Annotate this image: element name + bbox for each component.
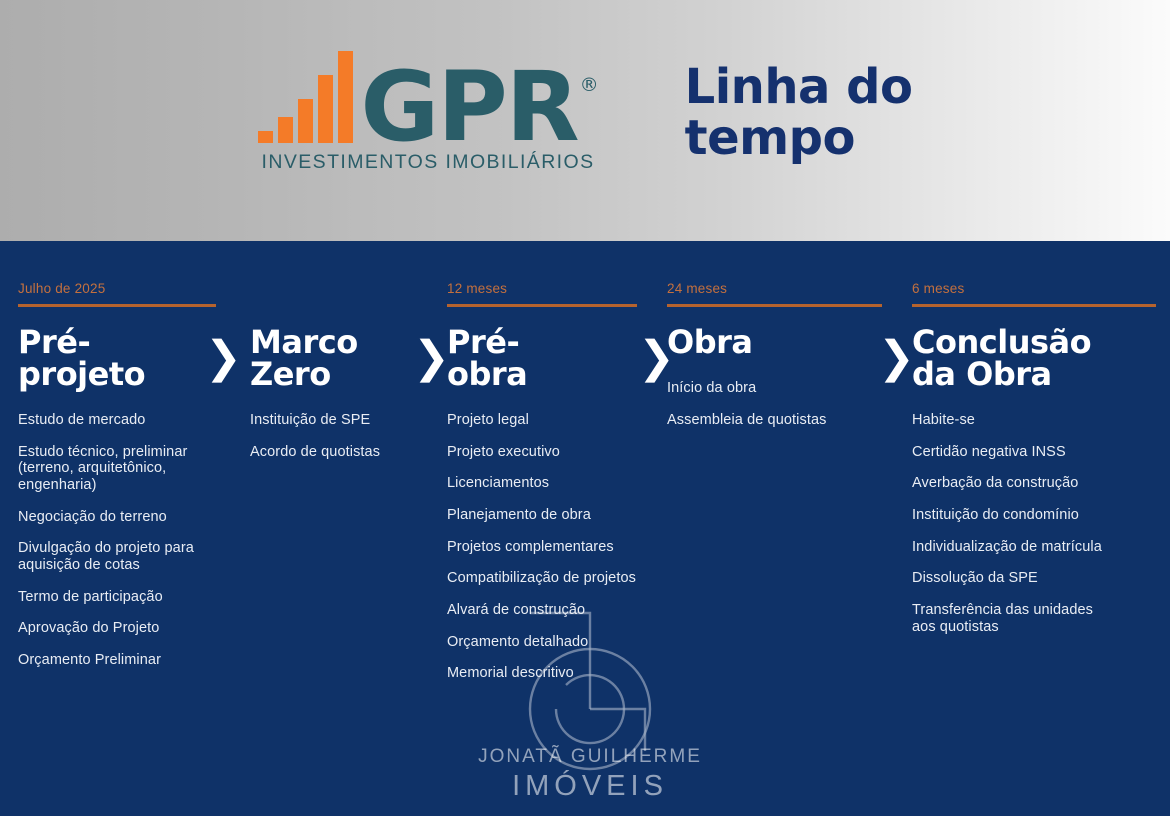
timeline-item-list: Projeto legal Projeto executivo Licencia… (447, 412, 637, 682)
list-item: Aprovação do Projeto (18, 620, 216, 637)
logo-wordmark: GPR (361, 68, 578, 147)
watermark-line-1: JONATÃ GUILHERME (465, 746, 715, 768)
timeline-column-marco-zero: Marco Zero Instituição de SPE Acordo de … (250, 241, 447, 720)
bar-chart-bar-1 (258, 131, 273, 143)
list-item: Estudo técnico, preliminar (terreno, arq… (18, 444, 216, 494)
watermark-line-2: IMÓVEIS (465, 770, 715, 803)
list-item: Estudo de mercado (18, 412, 216, 429)
timeline-accent-rule (18, 304, 216, 307)
timeline-column-pre-obra: 12 meses Pré- obra Projeto legal Projeto… (447, 241, 667, 720)
timeline-section: Julho de 2025 Pré- projeto Estudo de mer… (0, 241, 1170, 720)
page-title: Linha do tempo (685, 62, 913, 164)
list-item: Início da obra (667, 380, 882, 397)
list-item: Planejamento de obra (447, 507, 637, 524)
bar-chart-bar-2 (278, 117, 293, 143)
timeline-column-pre-projeto: Julho de 2025 Pré- projeto Estudo de mer… (0, 241, 250, 720)
list-item: Dissolução da SPE (912, 570, 1156, 587)
bar-chart-bar-5 (338, 51, 353, 143)
list-item: Acordo de quotistas (250, 444, 417, 461)
timeline-column-obra: 24 meses Obra Início da obra Assembleia … (667, 241, 912, 720)
header-content: GPR ® INVESTIMENTOS IMOBILIÁRIOS Linha d… (258, 51, 913, 174)
list-item: Orçamento detalhado (447, 634, 637, 651)
gpr-logo: GPR ® INVESTIMENTOS IMOBILIÁRIOS (258, 51, 599, 174)
logo-wordmark-wrap: GPR ® (361, 68, 599, 147)
timeline-date-label: Julho de 2025 (18, 281, 216, 298)
list-item: Negociação do terreno (18, 509, 216, 526)
timeline-column-conclusao-da-obra: 6 meses Conclusão da Obra Habite-se Cert… (912, 241, 1170, 720)
chevron-right-icon: ❯ (413, 336, 450, 380)
chevron-right-icon: ❯ (878, 336, 915, 380)
list-item: Termo de participação (18, 589, 216, 606)
timeline-accent-rule (447, 304, 637, 307)
list-item: Assembleia de quotistas (667, 412, 882, 429)
bar-chart-bar-4 (318, 75, 333, 143)
registered-trademark-icon: ® (580, 74, 599, 96)
timeline-stage-title: Marco Zero (250, 326, 417, 390)
list-item: Licenciamentos (447, 475, 637, 492)
timeline-date-label: 12 meses (447, 281, 637, 298)
list-item: Compatibilização de projetos (447, 570, 637, 587)
list-item: Instituição do condomínio (912, 507, 1156, 524)
logo-mark-row: GPR ® (258, 51, 599, 147)
timeline-stage-title: Obra (667, 326, 882, 358)
timeline-stage-title: Pré- obra (447, 326, 637, 390)
timeline-accent-rule (912, 304, 1156, 307)
header-banner: GPR ® INVESTIMENTOS IMOBILIÁRIOS Linha d… (0, 0, 1170, 241)
bar-chart-bar-3 (298, 99, 313, 143)
list-item: Memorial descritivo (447, 665, 637, 682)
timeline-item-list: Instituição de SPE Acordo de quotistas (250, 412, 417, 460)
list-item: Divulgação do projeto para aquisição de … (18, 540, 216, 573)
list-item: Instituição de SPE (250, 412, 417, 429)
list-item: Projeto executivo (447, 444, 637, 461)
timeline-item-list: Estudo de mercado Estudo técnico, prelim… (18, 412, 216, 669)
timeline-item-list: Início da obra Assembleia de quotistas (667, 380, 882, 428)
bar-chart-icon (258, 51, 353, 143)
list-item: Alvará de construção (447, 602, 637, 619)
timeline-item-list: Habite-se Certidão negativa INSS Averbaç… (912, 412, 1156, 635)
chevron-right-icon: ❯ (205, 336, 242, 380)
timeline-stage-title: Pré- projeto (18, 326, 216, 390)
list-item: Habite-se (912, 412, 1156, 429)
list-item: Orçamento Preliminar (18, 652, 216, 669)
list-item: Projetos complementares (447, 539, 637, 556)
list-item: Averbação da construção (912, 475, 1156, 492)
list-item: Certidão negativa INSS (912, 444, 1156, 461)
timeline-accent-rule (667, 304, 882, 307)
watermark-text: JONATÃ GUILHERME IMÓVEIS (465, 746, 715, 803)
timeline-date-label: 24 meses (667, 281, 882, 298)
chevron-right-icon: ❯ (638, 336, 675, 380)
timeline-stage-title: Conclusão da Obra (912, 326, 1156, 390)
list-item: Projeto legal (447, 412, 637, 429)
list-item: Individualização de matrícula (912, 539, 1156, 556)
timeline-date-label: 6 meses (912, 281, 1156, 298)
list-item: Transferência das unidades aos quotistas (912, 602, 1156, 635)
